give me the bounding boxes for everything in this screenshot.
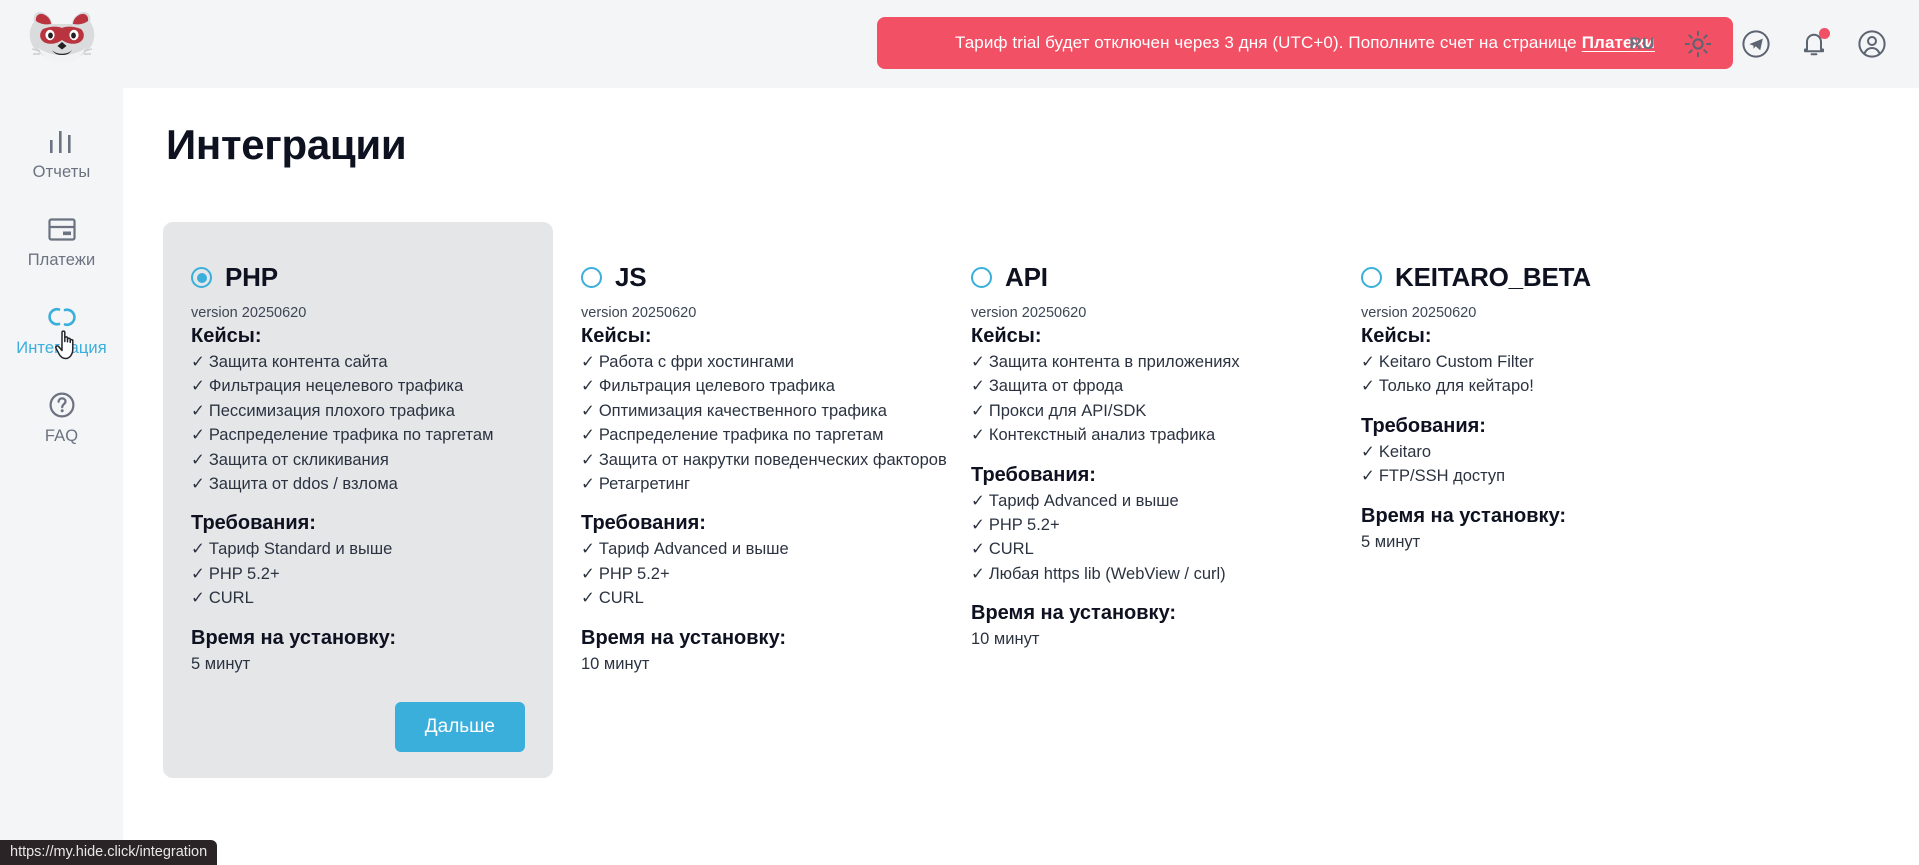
check-icon: ✓ — [191, 426, 205, 444]
radio-api[interactable] — [971, 267, 992, 288]
list-item: ✓Фильтрация целевого трафика — [581, 374, 915, 398]
radio-php[interactable] — [191, 267, 212, 288]
check-icon: ✓ — [191, 475, 205, 493]
check-icon: ✓ — [581, 589, 595, 607]
list-item: ✓Прокси для API/SDK — [971, 399, 1305, 423]
install-time-heading: Время на установку: — [191, 627, 525, 650]
card-version: version 20250620 — [581, 305, 915, 321]
check-icon: ✓ — [581, 565, 595, 583]
check-icon: ✓ — [971, 540, 985, 558]
list-item-label: CURL — [989, 540, 1034, 558]
page-title: Интеграции — [166, 121, 406, 169]
list-item: ✓CURL — [971, 537, 1305, 561]
top-bar-actions: RU — [1629, 0, 1887, 88]
sidebar-item-payments[interactable]: Платежи — [0, 196, 123, 284]
list-item: ✓Контекстный анализ трафика — [971, 423, 1305, 447]
install-time-heading: Время на установку: — [581, 627, 915, 650]
check-icon: ✓ — [971, 492, 985, 510]
check-icon: ✓ — [191, 402, 205, 420]
list-item-label: Защита от накрутки поведенческих факторо… — [599, 451, 947, 469]
list-item-label: Защита контента сайта — [209, 353, 388, 371]
list-item-label: Работа с фри хостингами — [599, 353, 794, 371]
list-item-label: Тариф Advanced и выше — [989, 492, 1179, 510]
list-item-label: Фильтрация нецелевого трафика — [209, 377, 463, 395]
check-icon: ✓ — [971, 377, 985, 395]
card-header: API — [971, 262, 1305, 293]
list-item-label: Фильтрация целевого трафика — [599, 377, 835, 395]
list-item: ✓Защита от накрутки поведенческих фактор… — [581, 448, 915, 472]
check-icon: ✓ — [191, 589, 205, 607]
list-item: ✓Тариф Standard и выше — [191, 537, 525, 561]
install-time-heading: Время на установку: — [1361, 505, 1695, 528]
sidebar: Отчеты Платежи — [0, 0, 123, 865]
check-icon: ✓ — [581, 402, 595, 420]
list-item-label: Защита контента в приложениях — [989, 353, 1240, 371]
check-icon: ✓ — [581, 353, 595, 371]
list-item: ✓Только для кейтаро! — [1361, 374, 1695, 398]
check-icon: ✓ — [581, 377, 595, 395]
radio-js[interactable] — [581, 267, 602, 288]
check-icon: ✓ — [971, 426, 985, 444]
integration-card-api[interactable]: APIversion 20250620Кейсы:✓Защита контент… — [943, 222, 1333, 778]
sidebar-item-label: Платежи — [28, 252, 96, 269]
card-actions: Дальше — [191, 702, 525, 752]
sidebar-item-integration[interactable]: Интеграция — [0, 284, 123, 372]
list-item: ✓Фильтрация нецелевого трафика — [191, 374, 525, 398]
list-item-label: Прокси для API/SDK — [989, 402, 1147, 420]
list-item: ✓PHP 5.2+ — [191, 562, 525, 586]
sidebar-item-faq[interactable]: FAQ — [0, 372, 123, 460]
notification-badge — [1819, 28, 1830, 39]
sidebar-item-label: FAQ — [45, 428, 78, 445]
sidebar-item-label: Интеграция — [16, 340, 107, 357]
list-item: ✓CURL — [581, 586, 915, 610]
list-item: ✓Защита от фрода — [971, 374, 1305, 398]
requirements-heading: Требования: — [191, 512, 525, 535]
card-title: PHP — [225, 262, 278, 293]
list-item: ✓Оптимизация качественного трафика — [581, 399, 915, 423]
list-item-label: CURL — [599, 589, 644, 607]
install-time-value: 10 минут — [581, 652, 915, 676]
list-item-label: CURL — [209, 589, 254, 607]
list-item-label: Тариф Standard и выше — [209, 540, 392, 558]
list-item-label: Только для кейтаро! — [1379, 377, 1534, 395]
raccoon-logo-icon[interactable] — [26, 8, 98, 66]
card-icon — [46, 212, 78, 246]
list-item: ✓Защита от ddos / взлома — [191, 472, 525, 496]
check-icon: ✓ — [971, 516, 985, 534]
list-item-label: Keitaro Custom Filter — [1379, 353, 1534, 371]
list-item: ✓Любая https lib (WebView / curl) — [971, 562, 1305, 586]
integration-cards: PHPversion 20250620Кейсы:✓Защита контент… — [163, 222, 1883, 778]
list-item: ✓PHP 5.2+ — [971, 513, 1305, 537]
list-item-label: Защита от фрода — [989, 377, 1123, 395]
browser-status-bar-url: https://my.hide.click/integration — [0, 840, 217, 865]
card-title: API — [1005, 262, 1048, 293]
install-time-value: 10 минут — [971, 627, 1305, 651]
list-item-label: Оптимизация качественного трафика — [599, 402, 887, 420]
cases-heading: Кейсы: — [581, 325, 915, 348]
list-item-label: FTP/SSH доступ — [1379, 467, 1505, 485]
card-version: version 20250620 — [971, 305, 1305, 321]
check-icon: ✓ — [1361, 377, 1375, 395]
check-icon: ✓ — [191, 353, 205, 371]
telegram-icon[interactable] — [1741, 29, 1771, 59]
sidebar-item-label: Отчеты — [33, 164, 91, 181]
list-item-label: Контекстный анализ трафика — [989, 426, 1215, 444]
check-icon: ✓ — [581, 475, 595, 493]
list-item-label: PHP 5.2+ — [209, 565, 280, 583]
list-item: ✓FTP/SSH доступ — [1361, 464, 1695, 488]
list-item: ✓Распределение трафика по таргетам — [581, 423, 915, 447]
check-icon: ✓ — [581, 540, 595, 558]
check-icon: ✓ — [191, 451, 205, 469]
card-title: KEITARO_BETA — [1395, 262, 1591, 293]
sidebar-items: Отчеты Платежи — [0, 108, 123, 460]
list-item: ✓Защита от скликивания — [191, 448, 525, 472]
integration-card-keitaro_beta[interactable]: KEITARO_BETAversion 20250620Кейсы:✓Keita… — [1333, 222, 1723, 778]
check-icon: ✓ — [581, 426, 595, 444]
list-item-label: Распределение трафика по таргетам — [599, 426, 884, 444]
integration-card-js[interactable]: JSversion 20250620Кейсы:✓Работа с фри хо… — [553, 222, 943, 778]
check-icon: ✓ — [191, 377, 205, 395]
list-item: ✓Keitaro Custom Filter — [1361, 350, 1695, 374]
list-item: ✓PHP 5.2+ — [581, 562, 915, 586]
list-item: ✓Ретагретинг — [581, 472, 915, 496]
next-button[interactable]: Дальше — [395, 702, 525, 752]
list-item-label: Пессимизация плохого трафика — [209, 402, 455, 420]
trial-warning-banner: Тариф trial будет отключен через 3 дня (… — [877, 17, 1733, 69]
card-version: version 20250620 — [1361, 305, 1695, 321]
list-item: ✓Распределение трафика по таргетам — [191, 423, 525, 447]
requirements-heading: Требования: — [581, 512, 915, 535]
check-icon: ✓ — [971, 565, 985, 583]
sidebar-item-reports[interactable]: Отчеты — [0, 108, 123, 196]
app-root: Отчеты Платежи — [0, 0, 1919, 865]
question-circle-icon — [46, 388, 78, 422]
list-item-label: Тариф Advanced и выше — [599, 540, 789, 558]
main-content: Интеграции PHPversion 20250620Кейсы:✓Защ… — [123, 88, 1919, 865]
install-time-value: 5 минут — [191, 652, 525, 676]
list-item: ✓Тариф Advanced и выше — [581, 537, 915, 561]
list-item: ✓Работа с фри хостингами — [581, 350, 915, 374]
check-icon: ✓ — [971, 353, 985, 371]
list-item: ✓Защита контента в приложениях — [971, 350, 1305, 374]
cases-heading: Кейсы: — [191, 325, 525, 348]
user-circle-icon[interactable] — [1857, 29, 1887, 59]
list-item: ✓CURL — [191, 586, 525, 610]
check-icon: ✓ — [1361, 467, 1375, 485]
requirements-heading: Требования: — [1361, 415, 1695, 438]
list-item-label: Защита от скликивания — [209, 451, 389, 469]
list-item-label: Keitaro — [1379, 443, 1431, 461]
list-item: ✓Тариф Advanced и выше — [971, 489, 1305, 513]
link-icon — [46, 300, 78, 334]
list-item-label: PHP 5.2+ — [989, 516, 1060, 534]
card-version: version 20250620 — [191, 305, 525, 321]
check-icon: ✓ — [971, 402, 985, 420]
integration-card-php[interactable]: PHPversion 20250620Кейсы:✓Защита контент… — [163, 222, 553, 778]
requirements-heading: Требования: — [971, 464, 1305, 487]
card-header: KEITARO_BETA — [1361, 262, 1695, 293]
list-item-label: Ретагретинг — [599, 475, 690, 493]
check-icon: ✓ — [1361, 443, 1375, 461]
install-time-heading: Время на установку: — [971, 602, 1305, 625]
card-title: JS — [615, 262, 646, 293]
list-item: ✓Keitaro — [1361, 440, 1695, 464]
cases-heading: Кейсы: — [971, 325, 1305, 348]
bell-icon[interactable] — [1799, 29, 1829, 59]
list-item: ✓Защита контента сайта — [191, 350, 525, 374]
check-icon: ✓ — [191, 565, 205, 583]
list-item: ✓Пессимизация плохого трафика — [191, 399, 525, 423]
install-time-value: 5 минут — [1361, 530, 1695, 554]
check-icon: ✓ — [191, 540, 205, 558]
list-item-label: Распределение трафика по таргетам — [209, 426, 494, 444]
top-bar: Тариф trial будет отключен через 3 дня (… — [123, 0, 1919, 88]
bar-chart-icon — [47, 124, 77, 158]
list-item-label: Защита от ddos / взлома — [209, 475, 398, 493]
list-item-label: Любая https lib (WebView / curl) — [989, 565, 1226, 583]
card-header: JS — [581, 262, 915, 293]
check-icon: ✓ — [1361, 353, 1375, 371]
card-header: PHP — [191, 262, 525, 293]
radio-keitaro_beta[interactable] — [1361, 267, 1382, 288]
cases-heading: Кейсы: — [1361, 325, 1695, 348]
list-item-label: PHP 5.2+ — [599, 565, 670, 583]
check-icon: ✓ — [581, 451, 595, 469]
banner-text: Тариф trial будет отключен через 3 дня (… — [955, 33, 1577, 53]
language-switcher[interactable]: RU — [1629, 34, 1655, 54]
sun-icon[interactable] — [1683, 29, 1713, 59]
